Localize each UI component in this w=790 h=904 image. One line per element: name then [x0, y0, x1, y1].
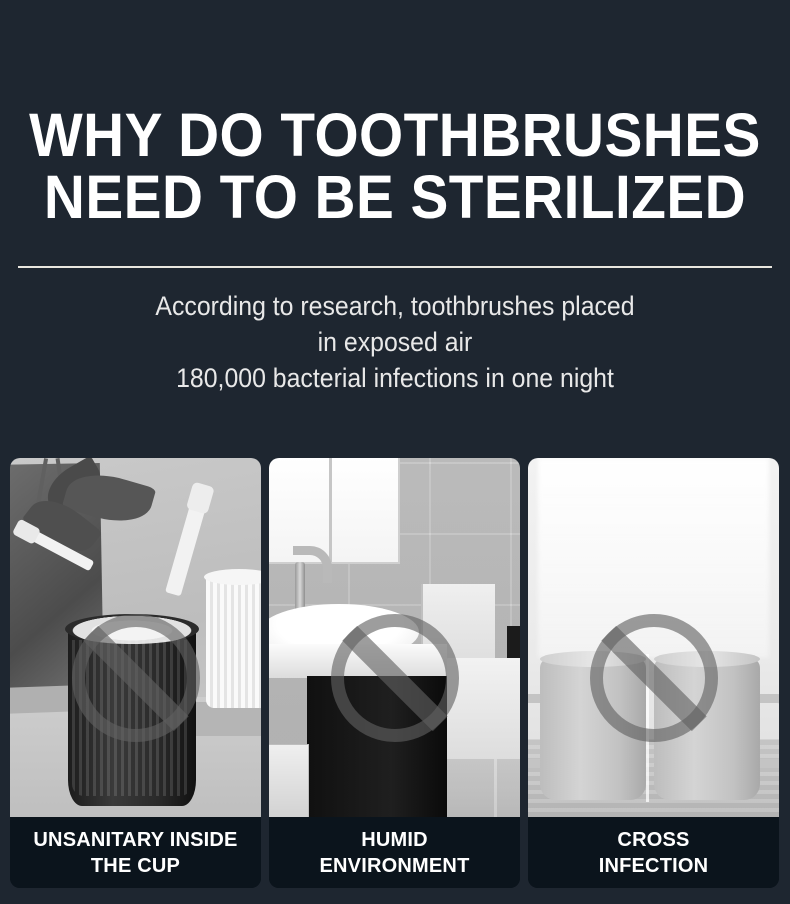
card-unsanitary-inside-the-cup[interactable]: UNSANITARY INSIDE THE CUP — [10, 458, 261, 888]
card-caption: HUMID ENVIRONMENT — [269, 817, 520, 888]
header-divider — [18, 266, 772, 268]
photo-art-mugs — [528, 458, 779, 817]
photo-art-bathroom — [269, 458, 520, 817]
photo-art-cup — [10, 458, 261, 817]
card-photo-cup — [10, 458, 261, 817]
card-photo-bathroom — [269, 458, 520, 817]
card-cross-infection[interactable]: CROSS INFECTION — [528, 458, 779, 888]
card-photo-mugs — [528, 458, 779, 817]
page-title: WHY DO TOOTHBRUSHES NEED TO BE STERILIZE… — [28, 104, 763, 228]
header-subtitle: According to research, toothbrushes plac… — [32, 288, 759, 396]
header-block: WHY DO TOOTHBRUSHES NEED TO BE STERILIZE… — [0, 0, 790, 228]
cards-row: UNSANITARY INSIDE THE CUP — [10, 458, 780, 888]
card-caption: UNSANITARY INSIDE THE CUP — [10, 817, 261, 888]
card-caption: CROSS INFECTION — [528, 817, 779, 888]
poster-root: WHY DO TOOTHBRUSHES NEED TO BE STERILIZE… — [0, 0, 790, 904]
card-humid-environment[interactable]: HUMID ENVIRONMENT — [269, 458, 520, 888]
